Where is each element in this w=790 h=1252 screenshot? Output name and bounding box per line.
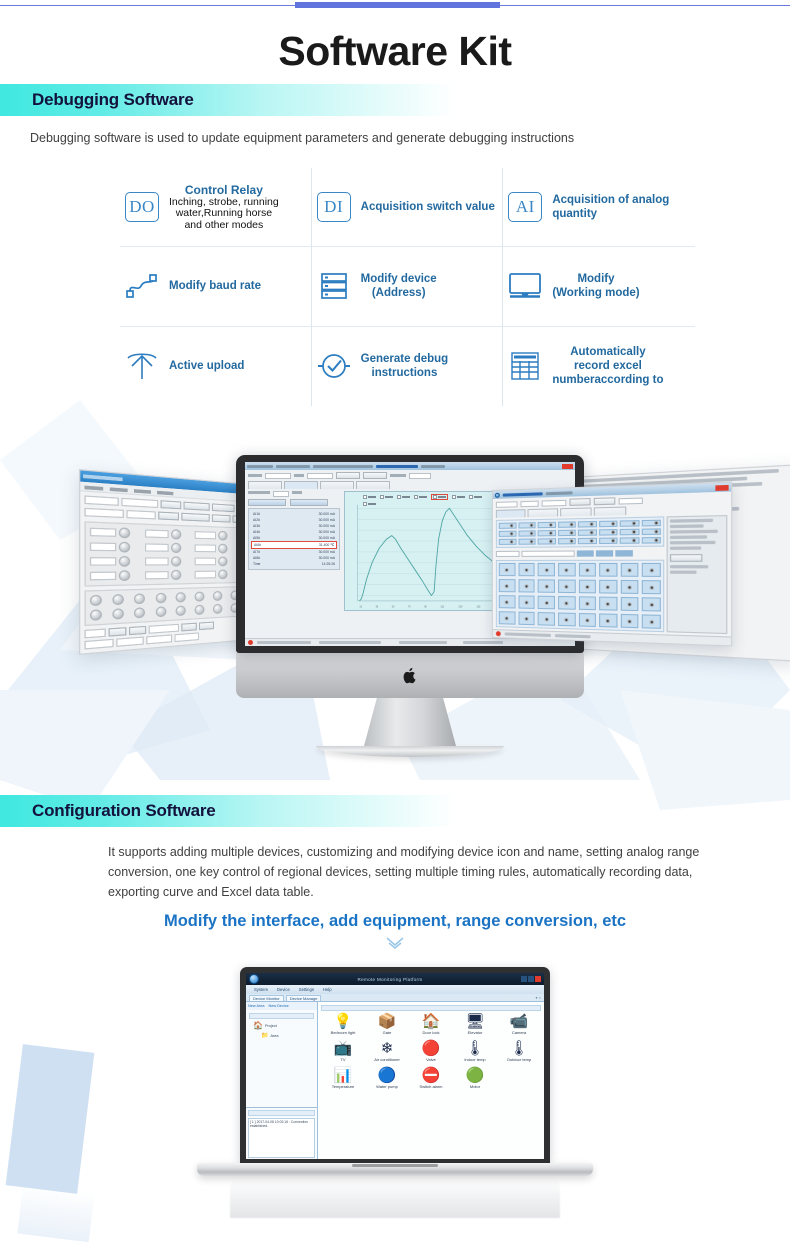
maximize-icon[interactable]	[528, 976, 534, 982]
page-title: Software Kit	[0, 28, 790, 75]
configuration-description: It supports adding multiple devices, cus…	[108, 843, 708, 902]
snowflake-icon: ❄	[365, 1041, 409, 1056]
tab-0[interactable]	[496, 509, 526, 518]
menu-item[interactable]: System	[254, 987, 268, 992]
device-label: Air conditioner	[365, 1057, 409, 1062]
thermometer-icon: 🌡	[497, 1041, 541, 1056]
tab-config[interactable]	[320, 481, 354, 489]
device-label: Motor	[453, 1084, 497, 1089]
stop-icon	[496, 631, 501, 636]
thermometer-icon: 🌡	[453, 1041, 497, 1056]
tab-1[interactable]	[528, 508, 559, 517]
section-badge-debugging: Debugging Software	[0, 84, 455, 116]
device-item[interactable]: 🔴Valve	[409, 1041, 453, 1062]
laptop-base	[197, 1163, 593, 1176]
close-icon[interactable]	[562, 464, 573, 469]
device-label: Temperature	[321, 1084, 365, 1089]
spreadsheet-icon	[505, 350, 545, 382]
device-item[interactable]: 📦Gate	[365, 1014, 409, 1035]
log-box[interactable]: [ 1 ] 2017-04-08 10:02:16 : Connection e…	[248, 1118, 315, 1158]
tree-toolbar[interactable]: New Area New Device	[246, 1002, 317, 1010]
package-icon: 📦	[365, 1014, 409, 1029]
device-item[interactable]: ❄Air conditioner	[365, 1041, 409, 1062]
stop-icon	[248, 640, 253, 645]
monitor-stand-foot	[316, 746, 504, 757]
tree-header	[249, 1013, 314, 1019]
feature-title: Generate debuginstructions	[361, 352, 449, 380]
feature-title: Automaticallyrecord excelnumberaccording…	[552, 345, 663, 387]
device-label: Indoor temp	[453, 1057, 497, 1062]
camera-icon: 📹	[497, 1014, 541, 1029]
configuration-subheadline: Modify the interface, add equipment, ran…	[0, 912, 790, 931]
section-badge-configuration: Configuration Software	[0, 795, 455, 827]
feature-item-modify-baud-rate: Modify baud rate	[120, 247, 312, 326]
window-buttons[interactable]	[521, 976, 541, 982]
house-icon: 🏠	[409, 1014, 453, 1029]
upload-arrow-icon	[122, 349, 162, 383]
device-item[interactable]: 📊Temperature	[321, 1068, 365, 1089]
tab-device-manage[interactable]: Device Manage	[286, 995, 322, 1001]
log-header	[248, 1110, 315, 1116]
di-badge-icon: DI	[314, 192, 354, 222]
tree-node-child[interactable]: 📁 Area	[261, 1032, 314, 1039]
di-badge-label: DI	[317, 192, 351, 222]
laptop-lid: Remote Monitoring Platform System Device…	[240, 967, 550, 1163]
left-panel: New Area New Device 🏠 Project 📁 Ar	[246, 1002, 318, 1159]
motor-icon: 🟢	[453, 1068, 497, 1083]
device-item[interactable]: 🌡Indoor temp	[453, 1041, 497, 1062]
device-label: Switch alarm	[409, 1084, 453, 1089]
laptop-reflection	[230, 1178, 560, 1218]
window-titlebar: Remote Monitoring Platform	[246, 973, 544, 985]
device-panel: 💡Bedroom light 📦Gate 🏠Door lock 🖥Elevato…	[318, 1002, 544, 1159]
device-item[interactable]: 🖥Elevator	[453, 1014, 497, 1035]
apple-logo-icon	[403, 667, 418, 684]
feature-item-active-upload: Active upload	[120, 327, 312, 406]
device-label: Camera	[497, 1030, 541, 1035]
minimize-icon[interactable]	[521, 976, 527, 982]
section-badge-label: Debugging Software	[0, 90, 194, 110]
svg-text:110: 110	[440, 606, 444, 608]
new-device-button[interactable]: New Device	[268, 1004, 288, 1008]
feature-item-modify-device: Modify device(Address)	[312, 247, 504, 326]
tree-node-root[interactable]: 🏠 Project	[253, 1021, 314, 1030]
section-badge-label: Configuration Software	[0, 801, 216, 821]
feature-title: Modify(Working mode)	[552, 272, 639, 300]
feature-item-acquisition-switch: DI Acquisition switch value	[312, 168, 504, 247]
svg-text:10: 10	[359, 606, 362, 608]
list-item[interactable]: Time14:25:26	[251, 561, 337, 567]
top-accent-bar	[295, 2, 500, 8]
device-item[interactable]: 🟢Motor	[453, 1068, 497, 1089]
close-icon[interactable]	[535, 976, 541, 982]
menu-item[interactable]: Device	[277, 987, 290, 992]
decorative-tilted-rectangle	[6, 1044, 95, 1194]
svg-text:130: 130	[458, 606, 463, 608]
parameter-row[interactable]	[245, 470, 575, 481]
svg-text:90: 90	[424, 606, 427, 608]
tv-icon: 📺	[321, 1041, 365, 1056]
app-logo-icon	[249, 974, 259, 984]
panel-header	[321, 1005, 541, 1011]
tab-data[interactable]	[284, 481, 318, 489]
feature-item-modify-working-mode: Modify(Working mode)	[503, 247, 695, 326]
svg-text:50: 50	[392, 606, 395, 608]
device-item[interactable]: 🔵Water pump	[365, 1068, 409, 1089]
close-icon[interactable]	[715, 484, 728, 490]
tab-setup[interactable]	[356, 481, 390, 489]
window-title: Remote Monitoring Platform	[262, 977, 518, 982]
device-label: Elevator	[453, 1030, 497, 1035]
check-circle-icon	[314, 350, 354, 382]
menu-bar[interactable]: System Device Settings Help	[246, 985, 544, 994]
feature-item-control-relay: DO Control Relay Inching, strobe, runnin…	[120, 168, 312, 247]
feature-item-record-excel: Automaticallyrecord excelnumberaccording…	[503, 327, 695, 406]
chevron-down-icon	[0, 936, 790, 956]
tab-curve[interactable]	[248, 481, 282, 489]
monitor-chin	[236, 653, 584, 698]
device-tree[interactable]: 🏠 Project 📁 Area	[246, 1010, 317, 1107]
body: New Area New Device 🏠 Project 📁 Ar	[246, 1002, 544, 1159]
tab-2[interactable]	[560, 507, 591, 516]
feature-item-generate-debug: Generate debuginstructions	[312, 327, 504, 406]
feature-title: Acquisition of analog quantity	[552, 193, 693, 221]
configuration-software-window[interactable]: Remote Monitoring Platform System Device…	[246, 973, 544, 1159]
svg-text:30: 30	[376, 606, 379, 608]
laptop-mockup: Remote Monitoring Platform System Device…	[197, 967, 593, 1218]
tree-node-label: Area	[270, 1034, 278, 1038]
log-section: [ 1 ] 2017-04-08 10:02:16 : Connection e…	[246, 1107, 317, 1159]
home-icon: 🏠	[253, 1021, 263, 1030]
device-item[interactable]: 🏠Door lock	[409, 1014, 453, 1035]
device-label: TV	[321, 1057, 365, 1062]
server-rack-icon	[314, 271, 354, 301]
do-badge-icon: DO	[122, 192, 162, 222]
device-label: Door lock	[409, 1030, 453, 1035]
tab-3[interactable]	[594, 507, 626, 516]
feature-label: Control Relay Inching, strobe, runningwa…	[169, 183, 279, 231]
feature-item-acquisition-analog: AI Acquisition of analog quantity	[503, 168, 695, 247]
debug-window-right-front[interactable]	[492, 481, 732, 646]
device-grid[interactable]: 💡Bedroom light 📦Gate 🏠Door lock 🖥Elevato…	[321, 1014, 541, 1089]
device-label: Water pump	[365, 1084, 409, 1089]
tab-close-icon[interactable]: ▾ ×	[536, 995, 541, 1000]
device-item[interactable]: 💡Bedroom light	[321, 1014, 365, 1035]
device-item[interactable]: ⛔Switch alarm	[409, 1068, 453, 1089]
tab-device-monitor[interactable]: Device Monitor	[249, 995, 284, 1001]
list-item-selected[interactable]: AI6#31.400 ℃	[251, 541, 337, 549]
chart-icon: 📊	[321, 1068, 365, 1083]
pump-icon: 🔵	[365, 1068, 409, 1083]
svg-text:70: 70	[408, 606, 411, 608]
desktop-icon: 🖥	[453, 1014, 497, 1029]
baud-rate-wave-icon	[122, 271, 162, 301]
feature-title: Modify device(Address)	[361, 272, 437, 300]
device-item[interactable]: 🌡Outdoor temp	[497, 1041, 541, 1062]
new-area-button[interactable]: New Area	[248, 1004, 264, 1008]
alarm-icon: ⛔	[409, 1068, 453, 1083]
device-label: Gate	[365, 1030, 409, 1035]
log-line: [ 1 ] 2017-04-08 10:02:16 : Connection e…	[250, 1120, 308, 1128]
do-badge-label: DO	[125, 192, 159, 222]
valve-icon: 🔴	[409, 1041, 453, 1056]
ai-badge-icon: AI	[505, 192, 545, 222]
tab-strip[interactable]: Device Monitor Device Manage ▾ ×	[246, 994, 544, 1002]
readings-list[interactable]: AI1#30.000 mA AI2#30.000 mA AI3#30.000 m…	[248, 508, 340, 570]
decorative-tilted-rectangle-reflection	[17, 1184, 95, 1242]
tree-node-label: Project	[265, 1024, 277, 1028]
feature-title: Active upload	[169, 359, 244, 373]
window-titlebar	[245, 462, 575, 470]
debugging-description: Debugging software is used to update equ…	[30, 129, 750, 149]
menu-item[interactable]: Settings	[299, 987, 314, 992]
folder-icon: 📁	[261, 1032, 268, 1039]
monitor-icon	[505, 271, 545, 301]
ai-badge-label: AI	[508, 192, 542, 222]
feature-title: Modify baud rate	[169, 279, 261, 293]
device-label: Bedroom light	[321, 1030, 365, 1035]
device-label: Valve	[409, 1057, 453, 1062]
monitor-stand-neck	[364, 698, 456, 746]
menu-item[interactable]: Help	[323, 987, 332, 992]
device-item[interactable]: 📹Camera	[497, 1014, 541, 1035]
device-item[interactable]: 📺TV	[321, 1041, 365, 1062]
feature-grid: DO Control Relay Inching, strobe, runnin…	[120, 168, 695, 406]
bulb-icon: 💡	[321, 1014, 365, 1029]
laptop-screen: Remote Monitoring Platform System Device…	[246, 973, 544, 1159]
feature-subtitle: Inching, strobe, runningwater,Running ho…	[169, 197, 279, 231]
right-info-panel	[667, 515, 728, 634]
svg-text:150: 150	[476, 606, 481, 608]
feature-title: Acquisition switch value	[361, 200, 495, 214]
laptop-notch	[352, 1164, 438, 1167]
chart-legend[interactable]	[363, 494, 483, 506]
device-label: Outdoor temp	[497, 1057, 541, 1062]
